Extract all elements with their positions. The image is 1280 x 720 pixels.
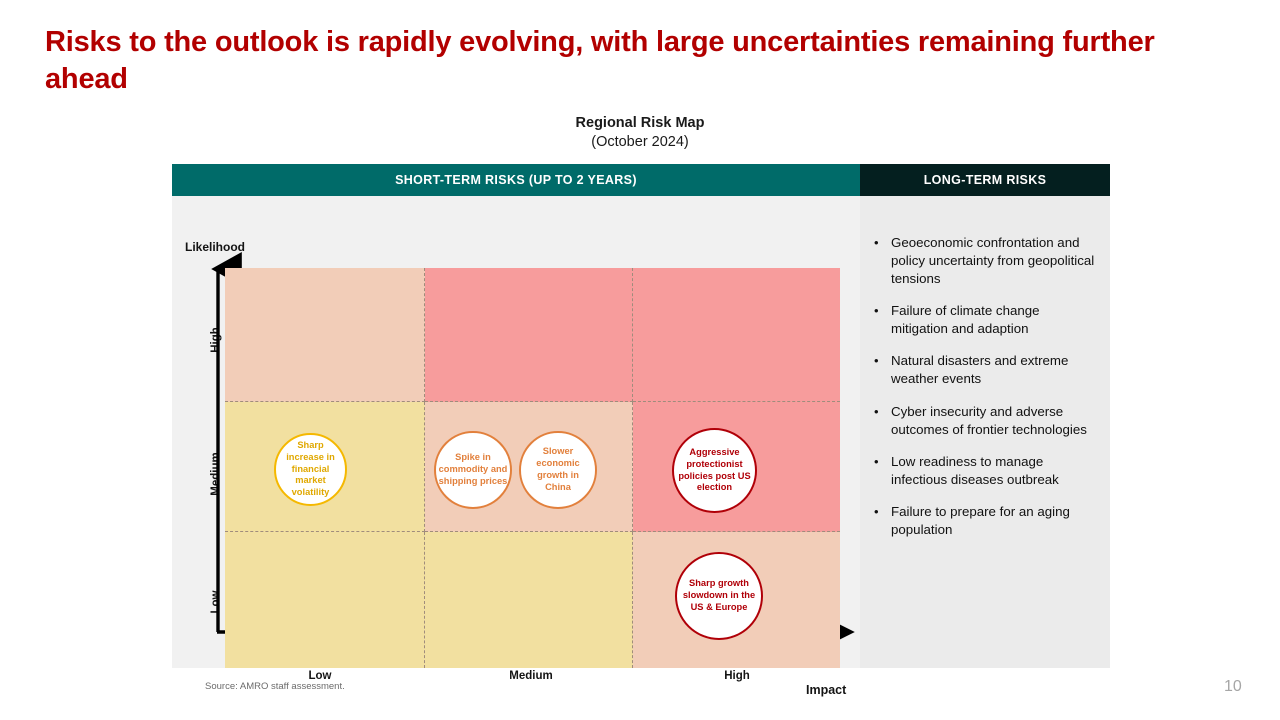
cell-low-impact-medium-likelihood: Sharp increase in financial market volat… [225, 402, 425, 532]
x-tick-medium: Medium [471, 670, 591, 682]
bullet-icon: • [874, 234, 891, 288]
risk-bubble-slower-china-growth[interactable]: Slower economic growth in China [519, 431, 597, 509]
risk-matrix-grid: Sharp increase in financial market volat… [225, 268, 840, 668]
cell-high-impact-medium-likelihood: Aggressive protectionist policies post U… [633, 402, 840, 532]
list-item: • Failure of climate change mitigation a… [874, 302, 1096, 338]
risk-bubble-financial-market-volatility[interactable]: Sharp increase in financial market volat… [274, 433, 347, 506]
list-item: • Failure to prepare for an aging popula… [874, 503, 1096, 539]
cell-medium-impact-low-likelihood [425, 532, 633, 668]
list-item: • Cyber insecurity and adverse outcomes … [874, 403, 1096, 439]
short-term-risks-panel: Likelihood Impact High Medium Low Low Me… [172, 196, 860, 668]
list-item-label: Low readiness to manage infectious disea… [891, 453, 1096, 489]
x-axis-title: Impact [806, 683, 846, 697]
y-tick-low: Low [210, 572, 222, 632]
list-item-label: Failure of climate change mitigation and… [891, 302, 1096, 338]
list-item-label: Geoeconomic confrontation and policy unc… [891, 234, 1096, 288]
y-axis-title: Likelihood [185, 240, 245, 254]
source-note: Source: AMRO staff assessment. [205, 681, 345, 692]
cell-low-impact-low-likelihood [225, 532, 425, 668]
chart-heading: Regional Risk Map (October 2024) [440, 114, 840, 151]
regional-risk-map: SHORT-TERM RISKS (UP TO 2 YEARS) LONG-TE… [172, 164, 1110, 668]
risk-bubble-commodity-shipping-prices[interactable]: Spike in commodity and shipping prices [434, 431, 512, 509]
bullet-icon: • [874, 352, 891, 388]
cell-high-impact-high-likelihood [633, 268, 840, 402]
page-title: Risks to the outlook is rapidly evolving… [45, 24, 1205, 98]
list-item-label: Failure to prepare for an aging populati… [891, 503, 1096, 539]
list-item: • Geoeconomic confrontation and policy u… [874, 234, 1096, 288]
bullet-icon: • [874, 403, 891, 439]
bullet-icon: • [874, 453, 891, 489]
bullet-icon: • [874, 302, 891, 338]
long-term-risks-panel: • Geoeconomic confrontation and policy u… [860, 196, 1110, 668]
y-tick-high: High [210, 310, 222, 370]
list-item-label: Cyber insecurity and adverse outcomes of… [891, 403, 1096, 439]
risk-bubble-us-europe-slowdown[interactable]: Sharp growth slowdown in the US & Europe [675, 552, 763, 640]
chart-subtitle: (October 2024) [440, 133, 840, 152]
list-item: • Low readiness to manage infectious dis… [874, 453, 1096, 489]
short-term-risks-header: SHORT-TERM RISKS (UP TO 2 YEARS) [172, 164, 860, 196]
long-term-risks-header: LONG-TERM RISKS [860, 164, 1110, 196]
cell-low-impact-high-likelihood [225, 268, 425, 402]
bullet-icon: • [874, 503, 891, 539]
cell-high-impact-low-likelihood: Sharp growth slowdown in the US & Europe [633, 532, 840, 668]
y-tick-medium: Medium [210, 444, 222, 504]
chart-title: Regional Risk Map [440, 114, 840, 133]
x-tick-high: High [677, 670, 797, 682]
page-number: 10 [1224, 678, 1242, 696]
list-item-label: Natural disasters and extreme weather ev… [891, 352, 1096, 388]
list-item: • Natural disasters and extreme weather … [874, 352, 1096, 388]
cell-medium-impact-medium-likelihood: Spike in commodity and shipping prices S… [425, 402, 633, 532]
risk-bubble-protectionist-policies[interactable]: Aggressive protectionist policies post U… [672, 428, 757, 513]
cell-medium-impact-high-likelihood [425, 268, 633, 402]
